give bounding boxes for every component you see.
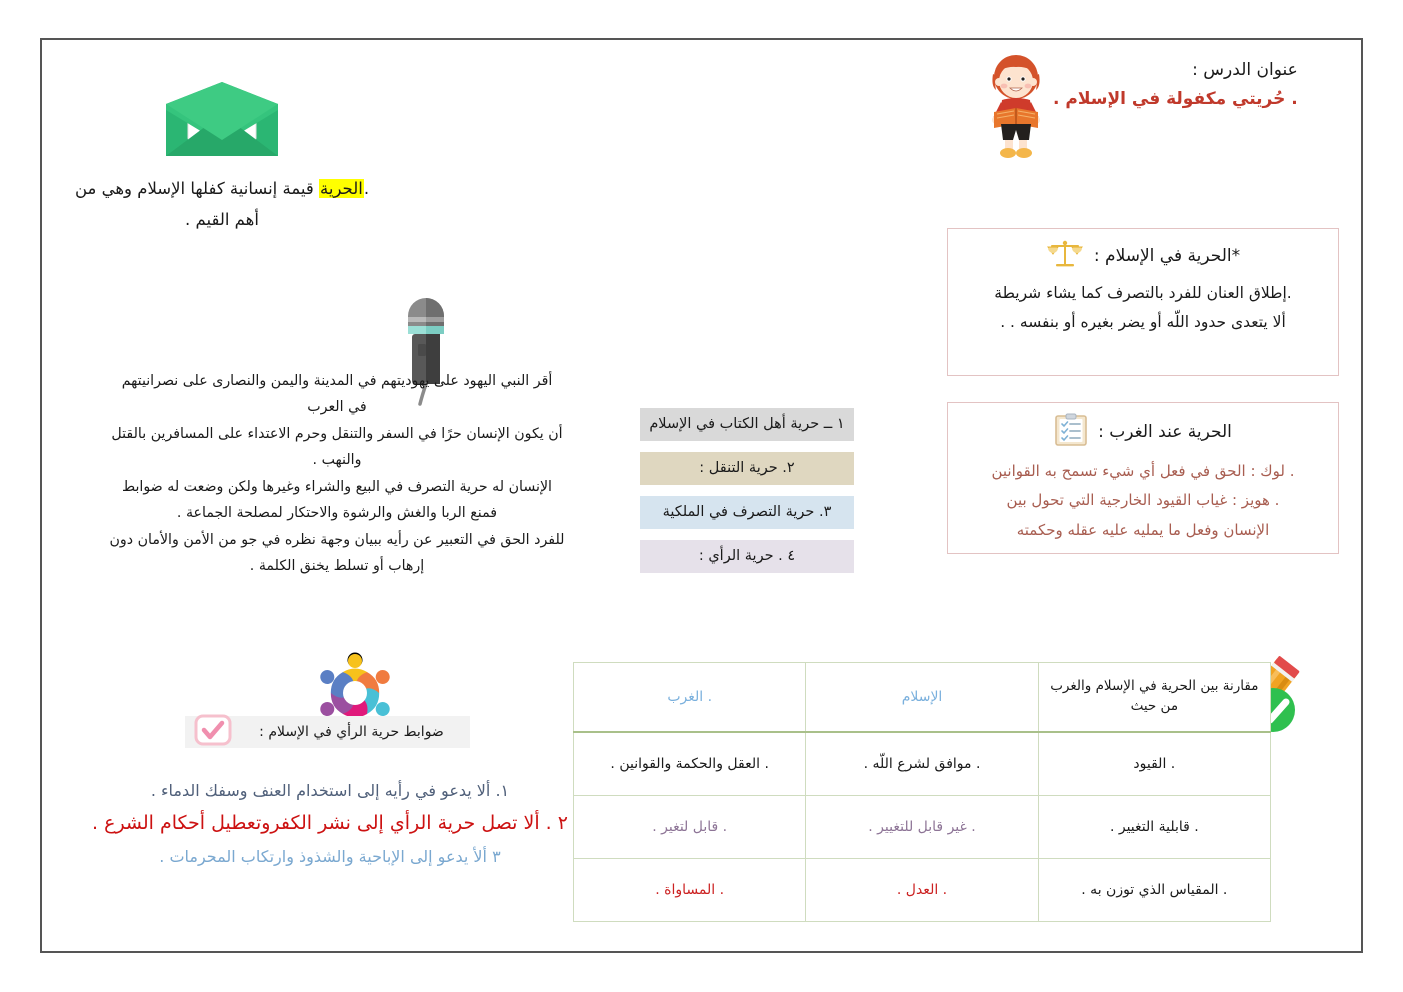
box-islam-line-1: .إطلاق العنان للفرد بالتصرف كما يشاء شري… [960,279,1326,308]
table-header-row: مقارنة بين الحرية في الإسلام والغرب من ح… [574,663,1271,733]
pink-checkbox-icon [193,714,233,750]
box-west-line-1: . لوك : الحق في فعل أي شيء تسمح به القوا… [960,457,1326,486]
opinion-rule-3: ٣ ألأ يدعو إلى الإباحية والشذوذ وارتكاب … [50,842,610,872]
table-cell-topic: . القيود [1038,732,1270,796]
table-header-islam: الإسلام [806,663,1038,733]
boy-reading-icon [985,52,1047,162]
table-row: . قابلية التغيير . . غير قابل للتغيير . … [574,796,1271,859]
freedom-item-4-label: ٤ . حرية الرأي : [699,548,795,564]
envelope-text-before: . [364,179,369,198]
paragraph-line: أقر النبي اليهود على يهوديتهم في المدينة… [52,370,622,392]
envelope-icon [162,145,282,164]
envelope-highlight: الحرية [319,179,364,198]
box-west-line-2: . هويز : غياب القيود الخارجية التي تحول … [960,486,1326,515]
table-cell-islam: . موافق لشرع اللّه . [806,732,1038,796]
paragraph-line: والنهب . [52,449,622,471]
box-islam-title: *الحرية في الإسلام : [1094,246,1240,266]
opinion-rules-label: ضوابط حرية الرأي في الإسلام : [241,724,462,740]
table-cell-west: . المساواة . [574,859,806,922]
table-cell-islam: . غير قابل للتغيير . [806,796,1038,859]
table-row: . المقياس الذي توزن به . . العدل . . الم… [574,859,1271,922]
freedom-item-4[interactable]: ٤ . حرية الرأي : [640,540,854,573]
envelope-text-after: قيمة إنسانية كفلها الإسلام وهي من أهم ال… [75,179,319,229]
explanation-paragraphs: أقر النبي اليهود على يهوديتهم في المدينة… [52,370,622,582]
paragraph-line: في العرب [52,396,622,418]
envelope-text: .الحرية قيمة إنسانية كفلها الإسلام وهي م… [72,174,372,235]
worksheet-page: عنوان الدرس : . حُريتي مكفولة في الإسلام… [40,38,1363,953]
paragraph-line: الإنسان له حرية التصرف في البيع والشراء … [52,476,622,498]
paragraph-line: للفرد الحق في التعبير عن رأيه ببيان وجهة… [52,529,622,551]
box-islam-line-2: ألا يتعدى حدود اللّه أو يضر بغيره أو بنف… [960,308,1326,337]
table-cell-topic: . المقياس الذي توزن به . [1038,859,1270,922]
table-row: . القيود . موافق لشرع اللّه . . العقل وا… [574,732,1271,796]
freedom-item-1-label: ١ ــ حرية أهل الكتاب في الإسلام [649,416,844,432]
lesson-header: عنوان الدرس : . حُريتي مكفولة في الإسلام… [985,52,1345,162]
opinion-rule-1: ١. ألا يدعو في رأيه إلى استخدام العنف وس… [50,776,610,806]
freedom-types-list: ١ ــ حرية أهل الكتاب في الإسلام ٢. حرية … [640,408,854,584]
table-cell-islam: . العدل . [806,859,1038,922]
box-west-line-3: الإنسان وفعل ما يمليه عليه عقله وحكمته [960,516,1326,545]
freedom-item-2-label: ٢. حرية التنقل : [699,460,794,476]
freedom-item-2[interactable]: ٢. حرية التنقل : [640,452,854,485]
freedom-item-3[interactable]: ٣. حرية التصرف في الملكية [640,496,854,529]
lesson-label: عنوان الدرس : [1053,56,1298,85]
table-cell-west: . العقل والحكمة والقوانين . [574,732,806,796]
paragraph-line: فمنع الربا والغش والرشوة والاحتكار لمصلح… [52,502,622,524]
freedom-item-3-label: ٣. حرية التصرف في الملكية [663,504,832,520]
clipboard-checklist-icon [1054,413,1088,451]
comparison-table: مقارنة بين الحرية في الإسلام والغرب من ح… [573,662,1271,922]
paragraph-line: أن يكون الإنسان حرًا في السفر والتنقل وح… [52,423,622,445]
freedom-in-west-box: الحرية عند الغرب : . لوك : الحق في فعل أ… [947,402,1339,554]
freedom-value-note: .الحرية قيمة إنسانية كفلها الإسلام وهي م… [72,78,372,235]
table-cell-west: . قابل لتغير . [574,796,806,859]
table-header-topic: مقارنة بين الحرية في الإسلام والغرب من ح… [1038,663,1270,733]
table-header-west: . الغرب [574,663,806,733]
opinion-rules-header: ضوابط حرية الرأي في الإسلام : [185,716,470,748]
page-title: . حُريتي مكفولة في الإسلام . [1053,85,1298,114]
scales-icon [1046,239,1084,273]
freedom-item-1[interactable]: ١ ــ حرية أهل الكتاب في الإسلام [640,408,854,441]
freedom-in-islam-box: *الحرية في الإسلام : .إطلاق العنان للفرد… [947,228,1339,376]
table-cell-topic: . قابلية التغيير . [1038,796,1270,859]
box-west-title: الحرية عند الغرب : [1098,422,1232,442]
paragraph-line: إرهاب أو تسلط يخنق الكلمة . [52,555,622,577]
opinion-rule-2: ٢ . ألا تصل حرية الرأي إلى نشر الكفروتعط… [50,808,610,838]
opinion-rules-list: ١. ألا يدعو في رأيه إلى استخدام العنف وس… [50,776,610,872]
